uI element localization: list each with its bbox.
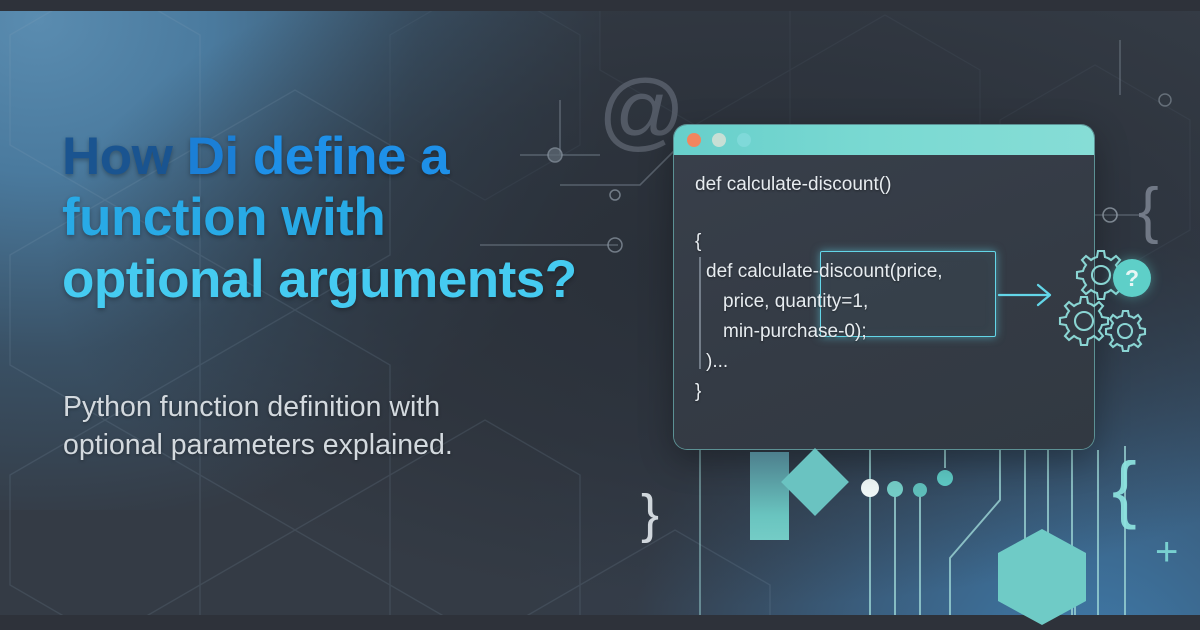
social-card: @ { } { + How Di define a function with … [0,0,1200,630]
title-word-define-a: define a [253,127,449,186]
code-line-body-1: def calculate-discount(price, [706,262,943,281]
decorative-rectangle [750,452,789,540]
code-line-close-paren: )... [706,352,728,371]
indent-guide [699,257,701,369]
close-button-dot[interactable] [687,133,701,147]
title-word-how: How [62,127,187,186]
decorative-hexagon [996,527,1088,627]
code-line-body-3: min-purchase-0); [723,322,867,341]
faint-brace-glyph: { [1138,180,1159,242]
window-titlebar [674,125,1094,155]
top-letterbox-bar [0,0,1200,11]
title-line-1: How Di define a [62,126,662,187]
arrow-right-icon [997,280,1059,310]
title-line-2: function with [62,187,662,248]
code-line-body-2: price, quantity=1, [723,292,868,311]
subtitle-line-2: optional parameters explained. [63,427,583,465]
gears-icon [1055,245,1175,355]
question-mark-badge: ? [1113,259,1151,297]
code-line-close-brace: } [695,382,701,401]
page-title: How Di define a function with optional a… [62,126,662,310]
maximize-button-dot[interactable] [737,133,751,147]
subtitle-line-1: Python function definition with [63,389,583,427]
plus-glyph: + [1155,532,1178,572]
code-line-signature: def calculate-discount() [695,175,891,194]
title-word-di: Di [187,127,253,186]
page-subtitle: Python function definition with optional… [63,389,583,465]
close-brace-glyph: } [641,487,659,541]
open-brace-glyph: { [1112,452,1137,526]
minimize-button-dot[interactable] [712,133,726,147]
question-mark-icon: ? [1125,267,1139,290]
code-line-open-brace: { [695,232,701,251]
title-line-3: optional arguments? [62,249,662,310]
